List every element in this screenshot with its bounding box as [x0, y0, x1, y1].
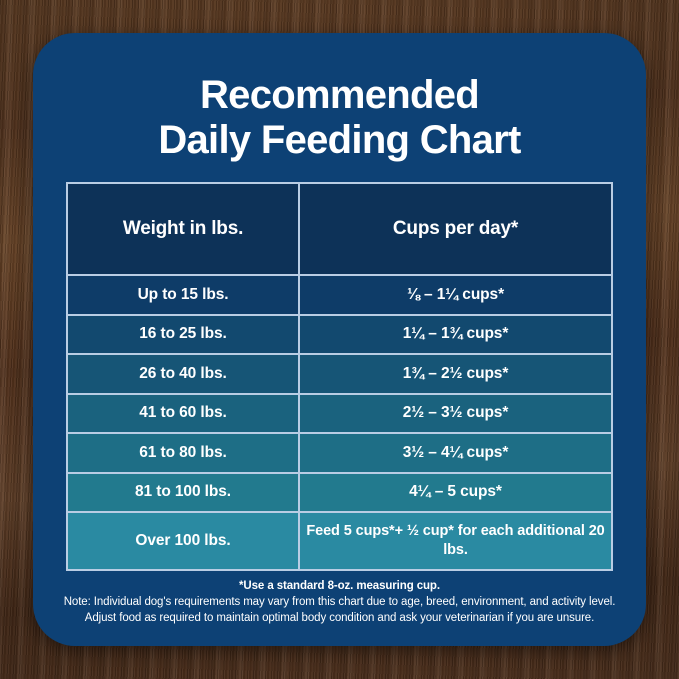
cell-weight: Up to 15 lbs. [68, 274, 300, 314]
cell-cups: 1¼ – 1¾ cups* [300, 314, 611, 354]
cell-weight: 16 to 25 lbs. [68, 314, 300, 354]
cell-cups: 4¼ – 5 cups* [300, 472, 611, 512]
table-row: Over 100 lbs. Feed 5 cups*+ ½ cup* for e… [68, 511, 611, 569]
cell-cups: Feed 5 cups*+ ½ cup* for each additional… [300, 511, 611, 569]
footnotes: *Use a standard 8-oz. measuring cup. Not… [51, 578, 628, 626]
cell-weight: Over 100 lbs. [68, 511, 300, 569]
page-title: Recommended Daily Feeding Chart [33, 73, 646, 163]
cell-weight: 41 to 60 lbs. [68, 393, 300, 433]
footnote-note-line: Note: Individual dog's requirements may … [51, 594, 628, 610]
table-row: 16 to 25 lbs. 1¼ – 1¾ cups* [68, 314, 611, 354]
footnote-adjust-line: Adjust food as required to maintain opti… [51, 610, 628, 626]
title-line-1: Recommended [200, 73, 479, 117]
table-row: 61 to 80 lbs. 3½ – 4¼ cups* [68, 432, 611, 472]
cell-cups: 1¾ – 2½ cups* [300, 353, 611, 393]
table-row: Up to 15 lbs. ⅛ – 1¼ cups* [68, 274, 611, 314]
table-row: 26 to 40 lbs. 1¾ – 2½ cups* [68, 353, 611, 393]
cell-cups: 2½ – 3½ cups* [300, 393, 611, 433]
cell-weight: 81 to 100 lbs. [68, 472, 300, 512]
cell-cups: ⅛ – 1¼ cups* [300, 274, 611, 314]
cell-cups: 3½ – 4¼ cups* [300, 432, 611, 472]
title-line-2: Daily Feeding Chart [33, 118, 646, 163]
column-header-weight: Weight in lbs. [68, 184, 300, 274]
feeding-chart-card: Recommended Daily Feeding Chart Weight i… [33, 33, 646, 646]
cell-weight: 26 to 40 lbs. [68, 353, 300, 393]
table-row: 41 to 60 lbs. 2½ – 3½ cups* [68, 393, 611, 433]
footnote-measuring-cup: *Use a standard 8-oz. measuring cup. [51, 578, 628, 594]
table-header-row: Weight in lbs. Cups per day* [68, 184, 611, 274]
screenshot-stage: Recommended Daily Feeding Chart Weight i… [0, 0, 679, 679]
cell-weight: 61 to 80 lbs. [68, 432, 300, 472]
feeding-table: Weight in lbs. Cups per day* Up to 15 lb… [66, 182, 613, 571]
column-header-cups: Cups per day* [300, 184, 611, 274]
table-row: 81 to 100 lbs. 4¼ – 5 cups* [68, 472, 611, 512]
